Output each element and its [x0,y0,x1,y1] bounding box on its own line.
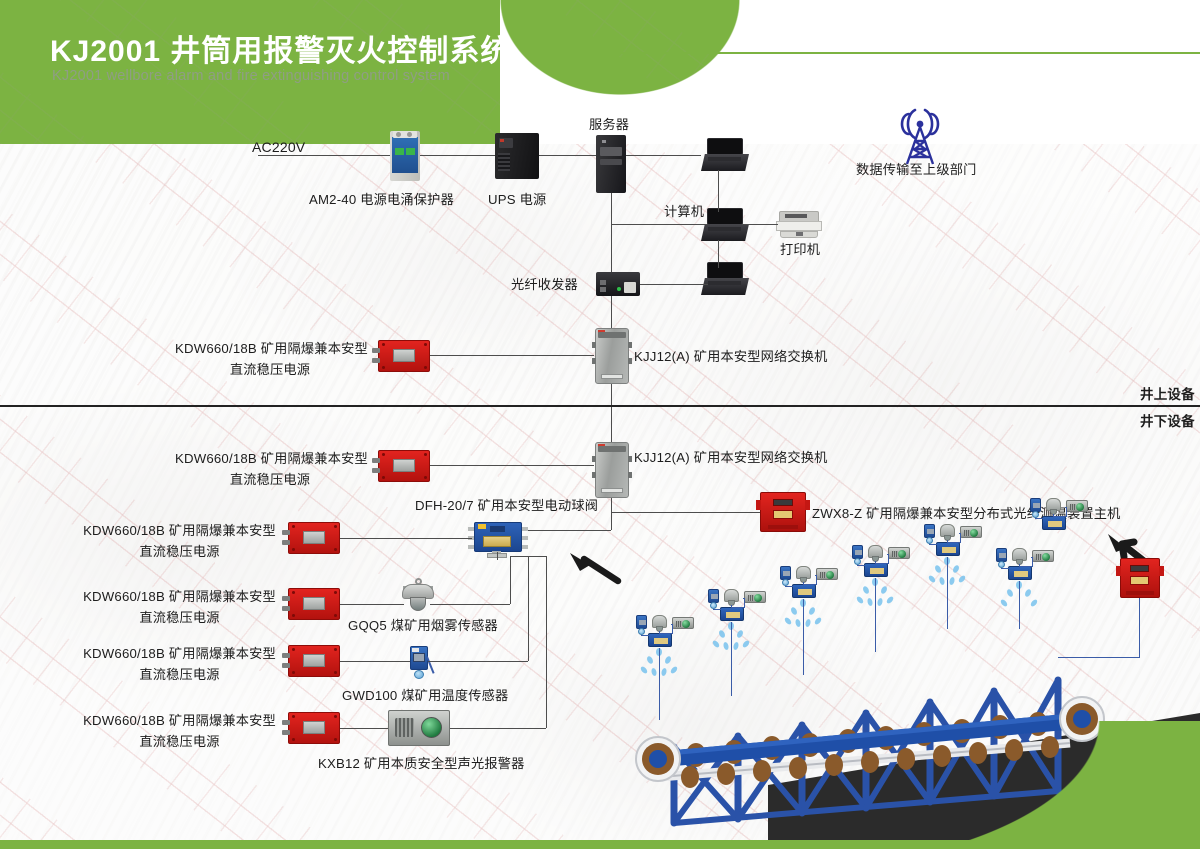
wire-fmc-to-pc3 [640,284,708,285]
wire-valve-stem-link [497,552,498,560]
wire-sensor-bus-riser-b [528,556,529,661]
footer-green-bar [0,840,1200,849]
power-supply-underground-5 [282,712,340,744]
label-fiber-converter: 光纤收发器 [511,275,578,294]
psu-label-line1: KDW660/18B 矿用隔爆兼本安型 [82,586,277,607]
label-below-ground: 井下设备 [1140,412,1195,431]
wire-surface-to-underground [611,384,612,446]
wire-pc2-pc3 [718,240,719,268]
power-supply-underground-2 [282,522,340,554]
label-ac-input: AC220V [252,138,305,157]
smoke-sensor-device [398,578,438,618]
psu-label-line1: KDW660/18B 矿用隔爆兼本安型 [82,643,277,664]
power-supply-underground-4 [282,645,340,677]
fiber-media-converter [596,272,640,296]
label-power-supply-underground-4: KDW660/18B 矿用隔爆兼本安型 直流稳压电源 [82,643,277,685]
wire-temp-to-bus [428,661,528,662]
temperature-sensor-device [404,643,434,685]
wire-sensor-bus-riser-a [546,556,547,728]
page-title: KJ2001 井筒用报警灭火控制系统 [50,26,511,70]
psu-label-line2: 直流稳压电源 [175,359,365,380]
psu-label-line1: KDW660/18B 矿用隔爆兼本安型 [82,520,277,541]
psu-label-line1: KDW660/18B 矿用隔爆兼本安型 [175,338,365,359]
wire-server-to-pc1 [626,155,701,156]
psu-label-line2: 直流稳压电源 [82,541,277,562]
page-subtitle: KJ2001 wellbore alarm and fire extinguis… [52,68,450,84]
label-uplink: 数据传输至上级部门 [856,160,977,179]
sprinkler-cluster-4 [850,545,912,579]
psu-label-line2: 直流稳压电源 [82,731,277,752]
network-switch-surface [595,328,629,384]
header-hairline [613,52,1200,54]
dts-host-device [760,492,806,532]
diagram-page: KJ2001 井筒用报警灭火控制系统 KJ2001 wellbore alarm… [0,0,1200,849]
label-server: 服务器 [589,115,629,134]
label-audible-visual-alarm: KXB12 矿用本质安全型声光报警器 [318,754,525,773]
sprinkler-cluster-7 [1028,498,1090,532]
workstation-3 [701,262,749,302]
footer-green-curve [770,721,1200,841]
wire-psu3-to-smoke [340,604,404,605]
field-host-device-right [1120,558,1160,598]
wire-psu2-to-valve [340,538,472,539]
wire-alarm-to-bus [450,728,546,729]
psu-label-line1: KDW660/18B 矿用隔爆兼本安型 [82,710,277,731]
label-power-supply-underground-5: KDW660/18B 矿用隔爆兼本安型 直流稳压电源 [82,710,277,752]
audible-visual-alarm-device [388,710,450,746]
psu-label-line2: 直流稳压电源 [175,469,365,490]
workstation-2 [701,208,749,248]
label-power-supply-underground-1: KDW660/18B 矿用隔爆兼本安型 直流稳压电源 [175,448,365,490]
power-supply-surface [372,340,430,372]
wire-sensor-bus-riser-c [510,556,511,604]
server-device [596,135,626,193]
power-supply-underground-3 [282,588,340,620]
wire-pc1-pc2 [718,170,719,212]
network-switch-underground [595,442,629,498]
surge-protector-device [390,131,420,181]
label-power-supply-underground-3: KDW660/18B 矿用隔爆兼本安型 直流稳压电源 [82,586,277,628]
label-smoke-sensor: GQQ5 煤矿用烟雾传感器 [348,616,498,635]
printer-device [776,211,822,241]
wire-psu4-to-temp [340,661,412,662]
wire-switch-to-dts [611,512,761,513]
label-power-supply-underground-2: KDW660/18B 矿用隔爆兼本安型 直流稳压电源 [82,520,277,562]
wire-psu-to-switch-surface [430,355,594,356]
wire-ups-to-server [539,155,597,156]
wire-sensor-bus-top [510,556,546,557]
label-ball-valve: DFH-20/7 矿用本安型电动球阀 [415,496,598,515]
ups-device [495,133,539,179]
wire-pc2-printer [742,224,778,225]
psu-label-line2: 直流稳压电源 [82,607,277,628]
sprinkler-cluster-5 [922,524,984,558]
label-above-ground: 井上设备 [1140,385,1195,404]
psu-label-line1: KDW660/18B 矿用隔爆兼本安型 [175,448,365,469]
label-switch-surface: KJJ12(A) 矿用本安型网络交换机 [634,347,828,366]
label-printer: 打印机 [780,240,820,259]
wire-psu5-to-alarm [340,728,388,729]
label-ups: UPS 电源 [488,190,546,209]
antenna-tower-icon [885,100,955,166]
label-switch-underground: KJJ12(A) 矿用本安型网络交换机 [634,448,828,467]
label-computer: 计算机 [664,202,704,221]
label-power-supply-surface: KDW660/18B 矿用隔爆兼本安型 直流稳压电源 [175,338,365,380]
wire-smoke-to-bus [430,604,510,605]
sprinkler-cluster-6 [994,548,1056,582]
wire-switch-trunk-down [611,498,612,530]
wire-fmc-trunk [611,291,612,331]
ground-divider-line [0,405,1200,407]
workstation-1 [701,138,749,178]
wire-server-to-pc2 [611,224,707,225]
wire-psu-to-switch-underground [430,465,594,466]
arrow-pointer-icon-left [560,545,622,592]
wire-spd-to-ups [420,155,495,156]
wire-switch-to-valve [525,530,611,531]
psu-label-line2: 直流稳压电源 [82,664,277,685]
label-surge-protector: AM2-40 电源电涌保护器 [309,190,454,209]
power-supply-underground-1 [372,450,430,482]
label-temperature-sensor: GWD100 煤矿用温度传感器 [342,686,508,705]
